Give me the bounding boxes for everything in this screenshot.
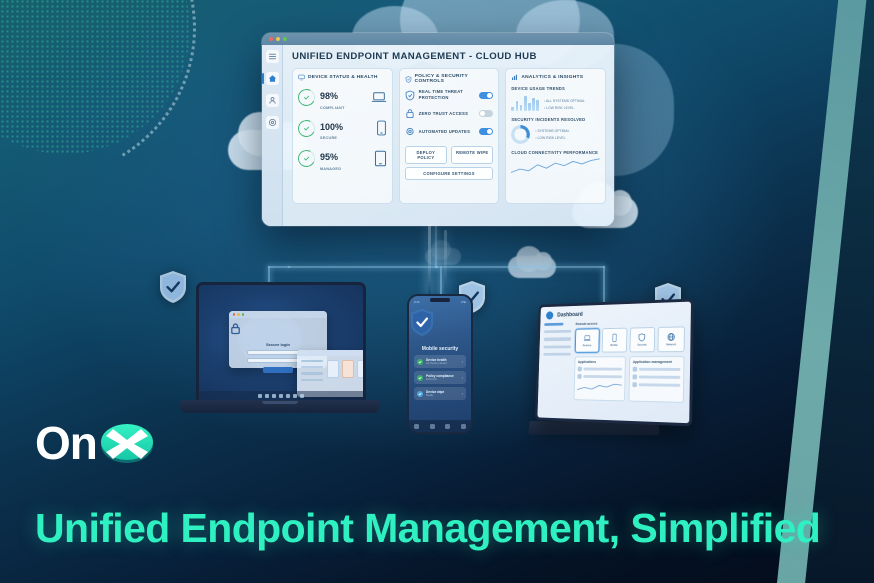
nav-search-icon[interactable] [430, 424, 435, 429]
lock-icon [229, 322, 242, 335]
shield-check-icon [405, 90, 415, 101]
sidebar [262, 45, 283, 226]
list-item-sub: Enforced [426, 378, 454, 381]
phone-bottom-nav[interactable] [409, 420, 471, 432]
dialog-title: Secure login [229, 342, 327, 347]
gear-icon [405, 126, 415, 137]
secondary-app-panel [297, 350, 366, 397]
chart-security-incidents: SYSTEMS OPTIMAL LOW RISK LEVEL [511, 125, 600, 144]
panel-analytics-title: ANALYTICS & INSIGHTS [521, 75, 583, 80]
card-label: Network [666, 343, 676, 346]
legend-item-incidents-1: LOW RISK LEVEL [535, 135, 569, 141]
status-time: 9:41 [414, 300, 420, 304]
nav-home-icon[interactable] [414, 424, 419, 429]
bar-chart-usage [511, 94, 539, 111]
sidebar-item-users[interactable] [266, 94, 279, 107]
minimize-button[interactable] [276, 37, 280, 41]
chevron-right-icon: › [462, 359, 463, 364]
bar-chart-icon [511, 74, 518, 81]
action-button-row: DEPLOY POLICY REMOTE WIPE [405, 146, 494, 164]
control-threat-protection-label: REAL TIME THREAT PROTECTION [419, 89, 476, 101]
connector-drop-phone [440, 266, 442, 296]
box-title: Application management [633, 360, 681, 364]
shield-check-badge [158, 270, 188, 304]
lock-icon [405, 108, 415, 119]
metric-value-compliant: 98% [320, 91, 338, 101]
close-button[interactable] [269, 37, 273, 41]
phone-screen: 9:41 LTE Mobile security Device health A… [407, 294, 473, 434]
metric-label-managed: MANAGED [320, 167, 341, 171]
progress-ring-compliant [296, 87, 317, 108]
phone-device: 9:41 LTE Mobile security Device health A… [407, 294, 473, 434]
check-icon [417, 359, 423, 365]
connector-bus-right [435, 266, 605, 268]
sidebar-item[interactable] [544, 345, 571, 348]
status-network: LTE [461, 300, 466, 304]
analytics-section-title-connectivity: CLOUD CONNECTIVITY PERFORMANCE [511, 150, 600, 155]
remote-access-card-mobile[interactable]: Mobile [601, 328, 626, 353]
laptop-icon [583, 334, 591, 342]
taskbar[interactable] [199, 391, 363, 400]
card-label: Security [637, 344, 646, 347]
check-icon [417, 375, 423, 381]
nav-alerts-icon[interactable] [445, 424, 450, 429]
sidebar-item[interactable] [544, 330, 571, 333]
legend-item-usage-1: LOW RISK LEVEL [544, 105, 585, 111]
control-automated-updates-label: AUTOMATED UPDATES [419, 129, 470, 135]
metric-compliant: 98% COMPLIANT [298, 86, 387, 110]
hamburger-icon[interactable] [266, 50, 279, 63]
applications-box: Applications [574, 356, 626, 401]
panel-policy-security: POLICY & SECURITY CONTROLS REAL TIME THR… [399, 68, 500, 204]
metric-label-compliant: COMPLIANT [320, 106, 345, 110]
phone-icon [376, 120, 387, 136]
remote-access-card-network[interactable]: Network [658, 326, 685, 352]
laptop-screen: Secure login [196, 282, 366, 400]
laptop-device: Secure login [180, 282, 380, 432]
check-icon [417, 391, 423, 397]
connector-drop-tablet [603, 266, 605, 302]
brand-text: On [35, 420, 97, 466]
control-automated-updates[interactable]: AUTOMATED UPDATES [405, 126, 494, 137]
remote-access-card-security[interactable]: Security [629, 327, 655, 352]
control-zero-trust-label: ZERO TRUST ACCESS [419, 111, 468, 117]
metric-value-secure: 100% [320, 122, 343, 132]
shield-icon [638, 333, 646, 342]
phone-notch [430, 298, 450, 302]
chart-device-usage-trends: ALL SYSTEMS OPTIMAL LOW RISK LEVEL [511, 94, 600, 111]
remote-wipe-button[interactable]: REMOTE WIPE [451, 146, 493, 164]
nav-settings-icon[interactable] [461, 424, 466, 429]
dotted-arc-decoration [0, 0, 228, 210]
control-threat-protection[interactable]: REAL TIME THREAT PROTECTION [405, 89, 494, 101]
connector-corner-left [268, 266, 290, 268]
headline: Unified Endpoint Management, Simplified [35, 505, 820, 552]
sign-in-button[interactable] [263, 367, 293, 373]
control-zero-trust[interactable]: ZERO TRUST ACCESS [405, 108, 494, 119]
remote-access-card-desktop[interactable]: Desktop [575, 328, 600, 352]
x-mark-logo [95, 418, 159, 468]
laptop-icon [371, 91, 387, 104]
progress-ring-managed [296, 148, 317, 169]
panel-analytics: ANALYTICS & INSIGHTS DEVICE USAGE TRENDS… [505, 68, 606, 204]
progress-ring-secure [296, 118, 317, 139]
globe-icon [667, 332, 676, 341]
legend-item-usage-0: ALL SYSTEMS OPTIMAL [544, 98, 585, 104]
application-management-box: Application management [628, 356, 684, 403]
tablet-screen: Dashboard Remote access Desktop [535, 299, 694, 427]
list-item[interactable]: Device wipe Ready › [414, 387, 466, 400]
tablet-device: Dashboard Remote access Desktop [505, 298, 695, 438]
analytics-section-title-usage: DEVICE USAGE TRENDS [511, 86, 600, 91]
window-content: UNIFIED ENDPOINT MANAGEMENT - CLOUD HUB … [283, 45, 614, 226]
panel-policy-security-title: POLICY & SECURITY CONTROLS [415, 74, 494, 84]
shield-check-icon [409, 308, 435, 337]
connector-trunk-vertical [435, 226, 437, 268]
donut-chart-incidents [511, 125, 530, 144]
laptop-base [180, 400, 380, 413]
sidebar-item-settings[interactable] [266, 116, 279, 129]
dialog-titlebar [229, 311, 327, 318]
box-title: Applications [578, 360, 622, 364]
chevron-right-icon: › [462, 375, 463, 380]
sidebar-item[interactable] [543, 353, 570, 356]
tablet-sidebar [542, 323, 572, 400]
panel-policy-security-header: POLICY & SECURITY CONTROLS [405, 74, 494, 84]
toggle-zero-trust[interactable] [479, 110, 493, 117]
deploy-policy-button[interactable]: DEPLOY POLICY [405, 146, 447, 164]
card-label: Mobile [610, 344, 617, 347]
metric-label-secure: SECURE [320, 136, 343, 140]
app-window: UNIFIED ENDPOINT MANAGEMENT - CLOUD HUB … [262, 33, 614, 226]
sidebar-item-active[interactable] [544, 323, 563, 326]
card-label: Desktop [583, 344, 592, 347]
maximize-button[interactable] [283, 37, 287, 41]
connector-bus-left [288, 266, 438, 268]
remote-access-grid: Desktop Mobile Security Network [575, 326, 685, 352]
window-titlebar [262, 33, 614, 45]
toggle-threat-protection[interactable] [479, 92, 493, 99]
analytics-section-title-incidents: SECURITY INCIDENTS RESOLVED [511, 117, 600, 122]
chevron-right-icon: › [462, 391, 463, 396]
legend-item-incidents-0: SYSTEMS OPTIMAL [535, 128, 569, 134]
metric-secure: 100% SECURE [298, 117, 387, 141]
list-item[interactable]: Device health All checks passed › [414, 355, 466, 368]
list-item[interactable]: Policy compliance Enforced › [414, 371, 466, 384]
panel-analytics-header: ANALYTICS & INSIGHTS [511, 74, 600, 81]
data-stream-glow-b [444, 230, 447, 292]
list-item-sub: Ready [426, 394, 444, 397]
monitor-icon [298, 74, 305, 81]
panel-device-status-title: DEVICE STATUS & HEALTH [308, 75, 378, 80]
sidebar-item-home[interactable] [266, 72, 279, 85]
brand-logo: On [35, 418, 159, 468]
panel-device-status-header: DEVICE STATUS & HEALTH [298, 74, 387, 81]
toggle-automated-updates[interactable] [479, 128, 493, 135]
page-title: UNIFIED ENDPOINT MANAGEMENT - CLOUD HUB [292, 51, 606, 62]
sidebar-item[interactable] [544, 338, 571, 341]
tablet-section-label: Remote access [576, 319, 685, 326]
mini-line-chart [577, 382, 622, 393]
tablet-page-title: Dashboard [557, 312, 583, 318]
metric-value-managed: 95% [320, 152, 338, 162]
data-stream-glow-a [428, 224, 431, 296]
legend-incidents: SYSTEMS OPTIMAL LOW RISK LEVEL [535, 128, 569, 141]
line-chart-connectivity [511, 158, 600, 175]
shield-check-icon [405, 76, 412, 83]
configure-settings-button[interactable]: CONFIGURE SETTINGS [405, 167, 494, 180]
poster-canvas: UNIFIED ENDPOINT MANAGEMENT - CLOUD HUB … [0, 0, 874, 583]
tablet-icon [374, 150, 387, 167]
phone-icon [610, 334, 618, 343]
metric-managed: 95% MANAGED [298, 147, 387, 171]
panel-device-status: DEVICE STATUS & HEALTH 98% COMPLIANT [292, 68, 393, 204]
legend-usage: ALL SYSTEMS OPTIMAL LOW RISK LEVEL [544, 98, 585, 111]
list-item-sub: All checks passed [426, 362, 447, 365]
avatar[interactable] [546, 311, 553, 319]
phone-title: Mobile security [409, 346, 471, 352]
